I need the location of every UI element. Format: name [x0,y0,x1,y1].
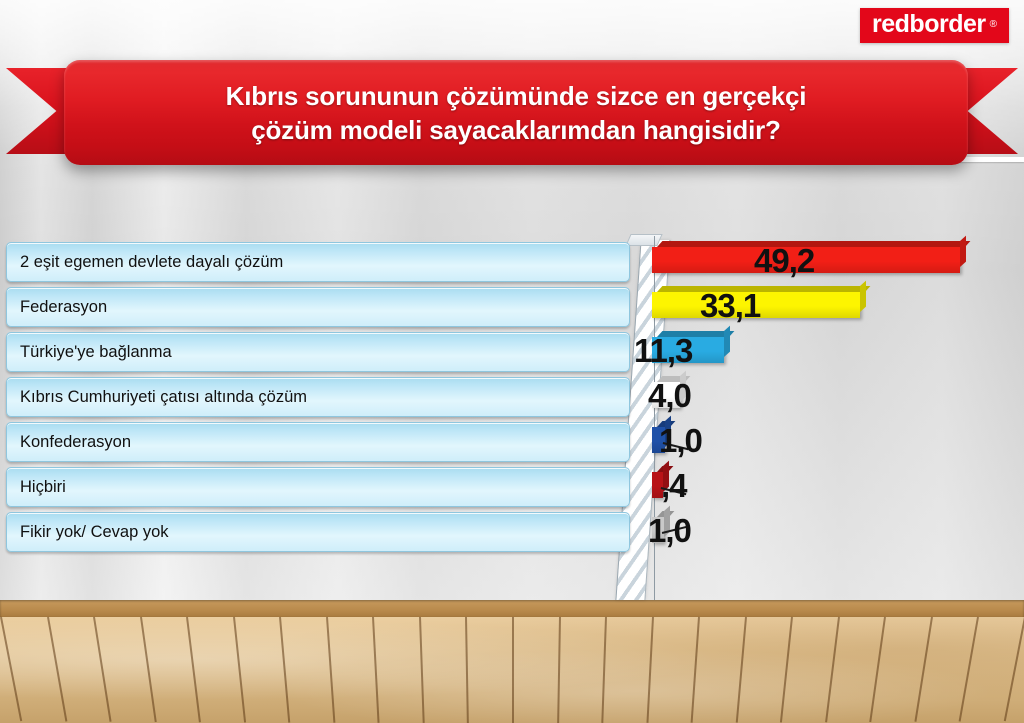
category-label-panel[interactable]: Kıbrıs Cumhuriyeti çatısı altında çözüm [6,377,630,417]
floor-plank [646,617,654,723]
registered-trademark-icon: ® [990,20,997,30]
question-line-2: çözüm modeli sayacaklarımdan hangisidir? [251,113,781,147]
category-label-panel[interactable]: Konfederasyon [6,422,630,462]
category-label: Hiçbiri [7,478,66,497]
category-label: 2 eşit egemen devlete dayalı çözüm [7,253,283,272]
value-label: 4,0 [648,377,691,415]
value-label: 11,3 [634,332,692,370]
floor-plank [959,617,979,722]
floor-plank [140,617,157,722]
title-ribbon: Kıbrıs sorununun çözümünde sizce en gerç… [0,60,1024,170]
bar-side-face [724,326,730,357]
floor-plank [557,617,561,723]
category-label: Federasyon [7,298,107,317]
category-label-panel[interactable]: Hiçbiri [6,467,630,507]
floor-plank [186,617,201,722]
chart-row: Kıbrıs Cumhuriyeti çatısı altında çözüm4… [0,375,1024,420]
floor-plank [465,617,469,723]
category-label-panel[interactable]: Türkiye'ye bağlanma [6,332,630,372]
chart-row: Hiçbiri,4 [0,465,1024,510]
floor-plank [825,617,840,722]
floor-plank [735,617,746,723]
floor-plank [512,617,514,723]
category-label-panel[interactable]: Fikir yok/ Cevap yok [6,512,630,552]
poll-bar-chart: 2 eşit egemen devlete dayalı çözüm49,2Fe… [0,240,1024,600]
value-label: 1,0 [648,512,691,550]
value-label: 1,0 [659,422,702,460]
redborder-logo: redborder ® [860,8,1009,43]
floor-plank [601,617,607,723]
question-line-1: Kıbrıs sorununun çözümünde sizce en gerç… [226,79,807,113]
category-label: Kıbrıs Cumhuriyeti çatısı altında çözüm [7,388,307,407]
value-label: ,4 [661,467,687,505]
value-label: 33,1 [700,287,760,325]
chart-row: Federasyon33,1 [0,285,1024,330]
floor-plank [326,617,335,723]
floor-skirting [0,600,1024,617]
chart-rows: 2 eşit egemen devlete dayalı çözüm49,2Fe… [0,240,1024,600]
category-label-panel[interactable]: 2 eşit egemen devlete dayalı çözüm [6,242,630,282]
floor-plank [47,617,67,722]
chart-row: 2 eşit egemen devlete dayalı çözüm49,2 [0,240,1024,285]
chart-row: Türkiye'ye bağlanma11,3 [0,330,1024,375]
floor-plank [93,617,112,722]
chart-row: Konfederasyon1,0 [0,420,1024,465]
bar-side-face [860,281,866,312]
wooden-floor [0,600,1024,723]
floor-plank [1004,617,1024,721]
category-label-panel[interactable]: Federasyon [6,287,630,327]
floor-plank [419,617,425,723]
floor-plank [279,617,290,723]
category-label: Türkiye'ye bağlanma [7,343,172,362]
floor-plank [372,617,380,723]
category-label: Konfederasyon [7,433,131,452]
logo-wordmark: redborder [872,12,986,37]
bar-side-face [960,236,966,267]
value-label: 49,2 [754,242,814,280]
bar-top-face [657,286,870,292]
chart-row: Fikir yok/ Cevap yok1,0 [0,510,1024,555]
floor-plank [0,617,22,721]
category-label: Fikir yok/ Cevap yok [7,523,169,542]
floor-plank [914,617,933,722]
ribbon-body: Kıbrıs sorununun çözümünde sizce en gerç… [64,60,968,165]
floor-plank [780,617,793,723]
floor-plank [691,617,700,723]
floor-plank [233,617,246,723]
floor-plank [870,617,887,722]
